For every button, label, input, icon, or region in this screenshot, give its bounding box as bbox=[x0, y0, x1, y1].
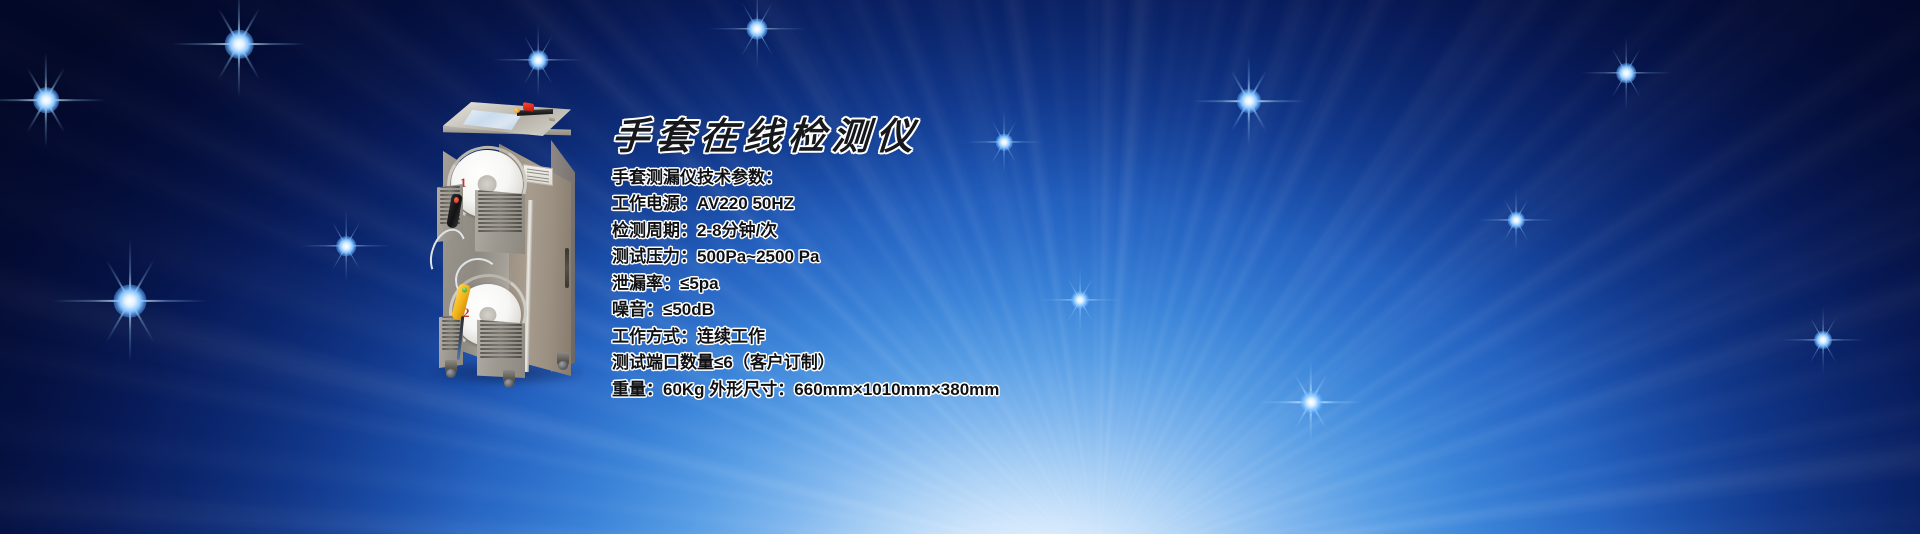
page-title: 手套在线检测仪 bbox=[611, 118, 1434, 159]
caster-wheel-right bbox=[557, 352, 569, 367]
product-banner: 1 2 手套在线检测仪 手套测漏仪技术参数：工作电源：AV220 50HZ检测 bbox=[0, 0, 1920, 534]
spec-line: 检测周期：2-8分钟/次 bbox=[612, 218, 1432, 245]
product-photo-glove-leak-tester: 1 2 bbox=[425, 88, 585, 393]
spec-line: 泄漏率：≤5pa bbox=[612, 271, 1432, 298]
caster-wheel-front bbox=[503, 370, 515, 385]
spec-line: 工作方式：连续工作 bbox=[612, 324, 1432, 351]
spec-line: 测试端口数量≤6（客户订制） bbox=[612, 350, 1432, 377]
spec-line: 测试压力：500Pa~2500 Pa bbox=[612, 244, 1432, 271]
vent-panel-upper-right bbox=[475, 188, 525, 254]
spec-line: 噪音：≤50dB bbox=[612, 297, 1432, 324]
vent-panel-lower-right bbox=[477, 318, 525, 378]
text-content-block: 手套在线检测仪 手套测漏仪技术参数：工作电源：AV220 50HZ检测周期：2-… bbox=[612, 118, 1432, 403]
spec-list: 手套测漏仪技术参数：工作电源：AV220 50HZ检测周期：2-8分钟/次测试压… bbox=[612, 165, 1432, 404]
spec-line: 手套测漏仪技术参数： bbox=[612, 165, 1432, 192]
indicator-lamp bbox=[514, 108, 520, 113]
caster-wheel-left bbox=[445, 360, 457, 375]
top-knob bbox=[549, 115, 555, 121]
spec-line: 工作电源：AV220 50HZ bbox=[612, 191, 1432, 218]
emergency-stop-button bbox=[523, 102, 534, 112]
spec-line: 重量：60Kg 外形尺寸：660mm×1010mm×380mm bbox=[612, 377, 1432, 404]
cabinet-door-handle bbox=[565, 248, 569, 288]
